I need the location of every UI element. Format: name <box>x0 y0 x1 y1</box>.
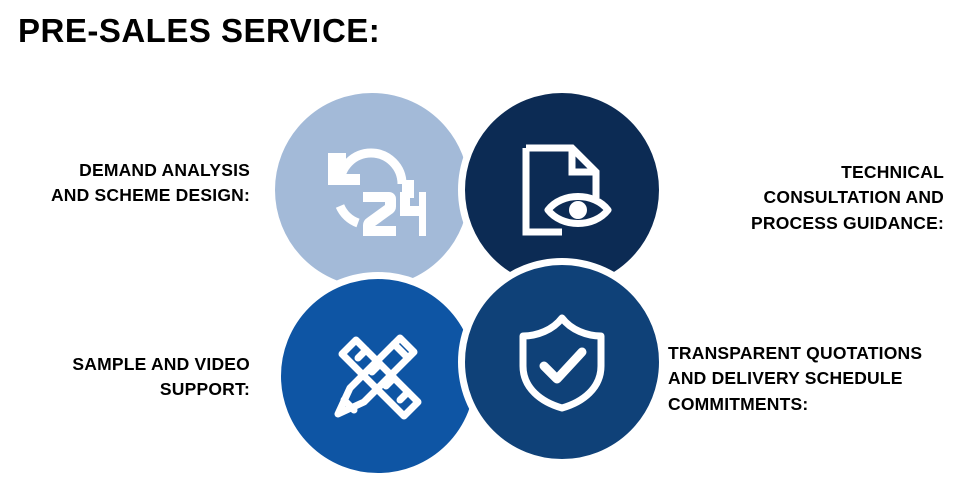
node-demand-analysis[interactable] <box>268 86 476 294</box>
clock-24-arrow-icon <box>318 140 426 240</box>
shield-check-icon <box>513 310 611 414</box>
infographic-page: PRE-SALES SERVICE: DEMAND ANALYSIS AND S… <box>0 0 960 498</box>
circle-cluster <box>268 86 666 480</box>
label-transparent-quotations: TRANSPARENT QUOTATIONS AND DELIVERY SCHE… <box>668 341 960 417</box>
label-technical-consultation: TECHNICAL CONSULTATION AND PROCESS GUIDA… <box>714 160 944 236</box>
document-eye-icon <box>510 138 614 242</box>
pencil-ruler-icon <box>324 324 432 428</box>
label-demand-analysis: DEMAND ANALYSIS AND SCHEME DESIGN: <box>10 158 250 209</box>
node-sample-and-video-support[interactable] <box>274 272 482 480</box>
label-sample-and-video-support: SAMPLE AND VIDEO SUPPORT: <box>10 352 250 403</box>
node-transparent-quotations[interactable] <box>458 258 666 466</box>
page-title: PRE-SALES SERVICE: <box>18 13 380 49</box>
